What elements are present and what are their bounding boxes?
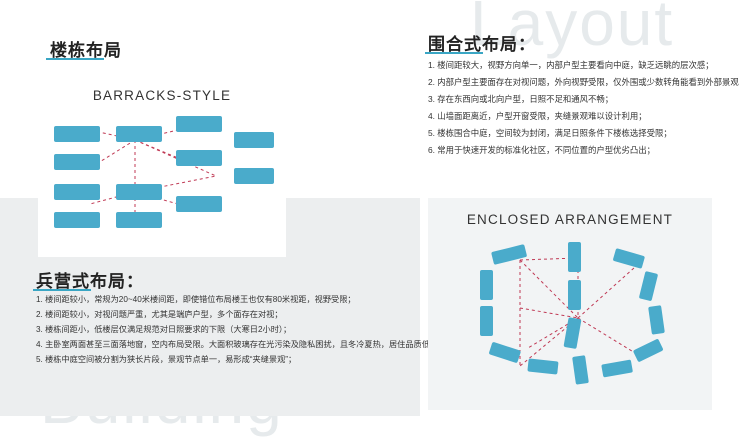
enclosed-list: 1. 楼间距较大，视野方向单一，内部户型主要看向中庭，缺乏远眺的层次感； 2. … — [428, 57, 728, 159]
list-item: 5. 楼栋围合中庭，空间较为封闭，满足日照条件下楼栋选择受限； — [428, 125, 728, 142]
title-underline-1 — [46, 58, 104, 60]
list-item: 4. 主卧室两面甚至三面落地窗，空内布局受限。大面积玻璃存在光污染及隐私困扰，且… — [36, 337, 416, 352]
list-item: 6. 常用于快速开发的标准化社区，不同位置的户型优劣凸出； — [428, 142, 728, 159]
list-item: 2. 楼间距较小，对视问题严重，尤其是端庐户型，多个面存在对视； — [36, 307, 416, 322]
barracks-diagram-graphic — [38, 72, 286, 257]
list-item: 3. 存在东西向或北向户型，日照不足和通风不畅； — [428, 91, 728, 108]
list-item: 1. 楼间距较大，视野方向单一，内部户型主要看向中庭，缺乏远眺的层次感； — [428, 57, 728, 74]
barracks-list: 1. 楼间距较小，常规为20~40米楼间距，即使错位布局楼王也仅有80米视距，视… — [36, 292, 416, 367]
title-underline-3 — [425, 52, 483, 54]
title-underline-2 — [33, 289, 91, 291]
list-item: 4. 山墙面距离近，户型开窗受限，夹缝景观难以设计利用； — [428, 108, 728, 125]
list-item: 3. 楼栋间距小，低楼层仅满足规范对日照要求的下限（大寒日2小时）； — [36, 322, 416, 337]
enclosed-diagram-graphic — [428, 198, 712, 410]
list-item: 1. 楼间距较小，常规为20~40米楼间距，即使错位布局楼王也仅有80米视距，视… — [36, 292, 416, 307]
enclosed-diagram: ENCLOSED ARRANGEMENT — [428, 198, 712, 410]
list-item: 5. 楼栋中庭空间被分割为狭长片段，景观节点单一，易形成“夹缝景观”； — [36, 352, 416, 367]
list-item: 2. 内部户型主要面存在对视问题，外向视野受限，仅外围或少数转角能看到外部景观； — [428, 74, 728, 91]
barracks-diagram: BARRACKS-STYLE — [38, 72, 286, 257]
